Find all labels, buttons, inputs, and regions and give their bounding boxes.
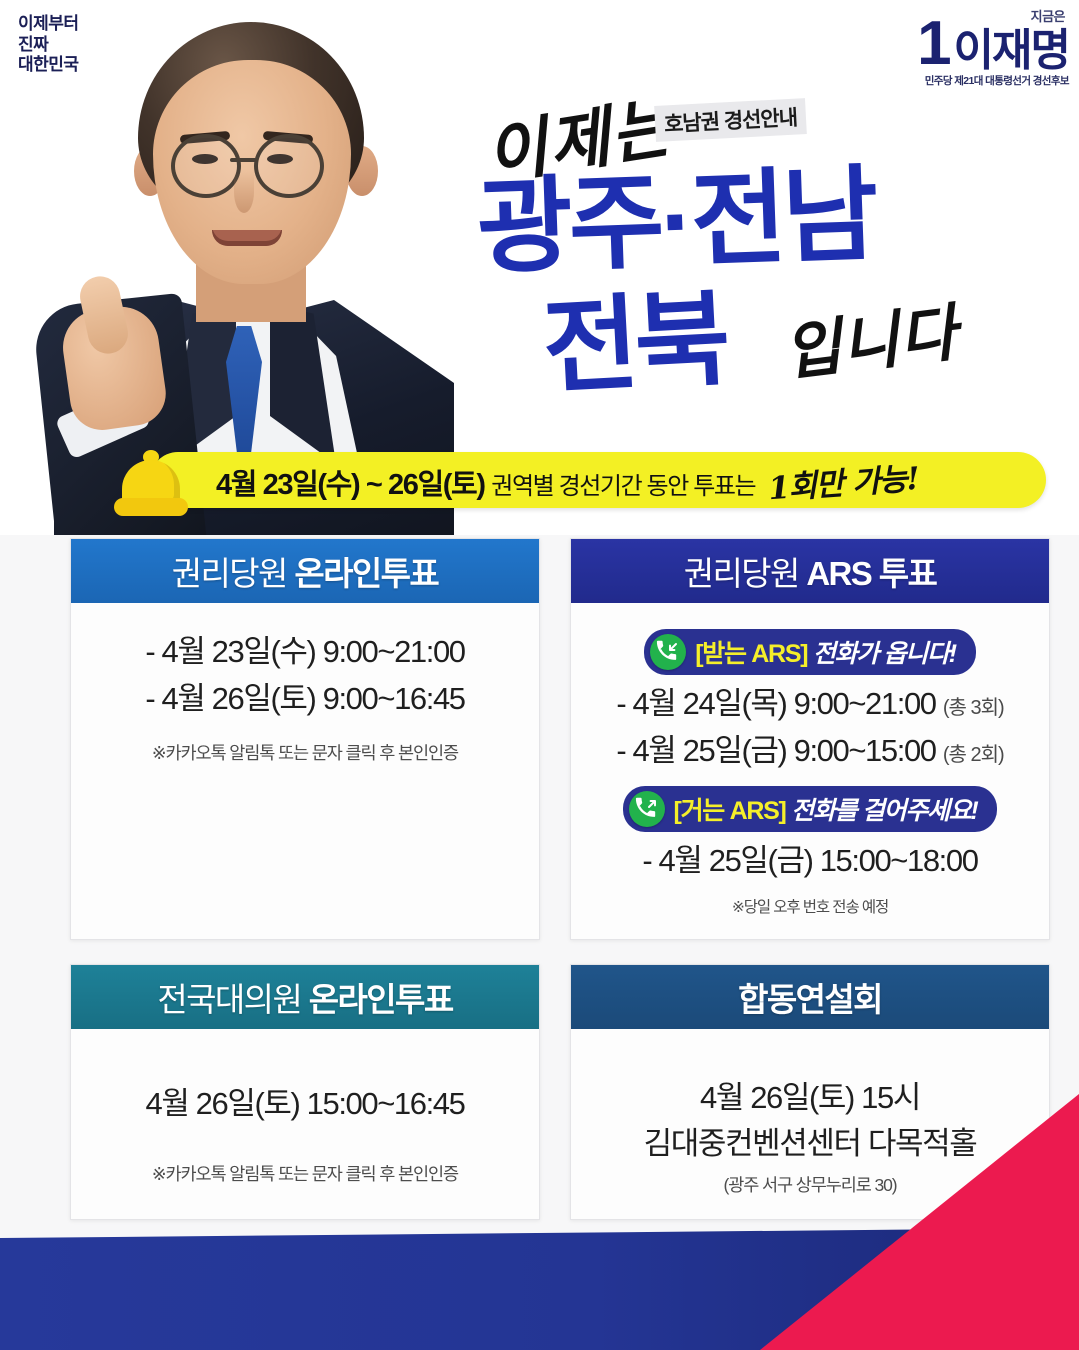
card-note: ※당일 오후 번호 전송 예정 bbox=[589, 895, 1031, 917]
card-note: ※카카오톡 알림톡 또는 문자 클릭 후 본인인증 bbox=[89, 740, 521, 765]
schedule-line: - 4월 24일(목) 9:00~21:00 (총 3회) bbox=[589, 681, 1031, 728]
schedule-count: (총 3회) bbox=[943, 697, 1004, 719]
schedule-line: 4월 26일(토) 15:00~16:45 bbox=[89, 1081, 521, 1128]
photo-mouth bbox=[212, 230, 282, 246]
period-banner: 4월 23일(수) ~ 26일(토) 권역별 경선기간 동안 투표는 1회만 가… bbox=[150, 452, 1046, 508]
phone-incoming-icon bbox=[650, 634, 686, 670]
outgoing-ars-pill: [거는 ARS] 전화를 걸어주세요! bbox=[623, 786, 998, 832]
headline-line-1: 광주·전남 bbox=[475, 163, 876, 281]
period-banner-text: 4월 23일(수) ~ 26일(토) 권역별 경선기간 동안 투표는 1회만 가… bbox=[216, 458, 918, 503]
bell-icon bbox=[112, 448, 190, 518]
venue-line: 김대중컨벤션센터 다목적홀 bbox=[589, 1121, 1031, 1168]
card-note: ※카카오톡 알림톡 또는 문자 클릭 후 본인인증 bbox=[89, 1161, 521, 1186]
card-kwonri-ars: 권리당원 ARS 투표 [받는 ARS] 전화가 옵니다! bbox=[570, 538, 1050, 940]
card-title-light: 권리당원 bbox=[172, 555, 295, 592]
card-header: 전국대의원 온라인투표 bbox=[71, 965, 539, 1029]
pill-highlight: [거는 ARS] bbox=[674, 797, 786, 825]
card-header: 합동연설회 bbox=[571, 965, 1049, 1029]
campaign-poster: 이제부터 진짜 대한민국 지금은 1 이재명 민주당 제21대 대통령선거 경선… bbox=[0, 0, 1079, 1350]
schedule-count: (총 2회) bbox=[943, 744, 1004, 766]
schedule-line-text: - 4월 24일(목) 9:00~21:00 bbox=[616, 686, 935, 721]
card-jeonguk-online: 전국대의원 온라인투표 4월 26일(토) 15:00~16:45 ※카카오톡 … bbox=[70, 964, 540, 1220]
card-title-light: 전국대의원 bbox=[157, 981, 308, 1018]
region-badge: 호남권 경선안내 bbox=[654, 98, 807, 142]
candidate-photo bbox=[20, 8, 450, 528]
card-body: 4월 26일(토) 15:00~16:45 ※카카오톡 알림톡 또는 문자 클릭… bbox=[71, 1029, 539, 1209]
phone-outgoing-icon bbox=[629, 791, 665, 827]
card-header: 권리당원 온라인투표 bbox=[71, 539, 539, 603]
headline-script-end: 입니다 bbox=[778, 282, 962, 393]
period-banner-period: 4월 23일(수) ~ 26일(토) bbox=[216, 469, 485, 501]
photo-glasses-left bbox=[171, 134, 241, 198]
schedule-line: - 4월 23일(수) 9:00~21:00 bbox=[89, 629, 521, 676]
period-banner-middle: 권역별 경선기간 동안 투표는 bbox=[491, 473, 755, 500]
pill-highlight: [받는 ARS] bbox=[695, 640, 807, 668]
candidate-name: 이재명 bbox=[954, 32, 1069, 70]
pill-text: 전화를 걸어주세요! bbox=[786, 797, 978, 825]
photo-nose bbox=[234, 171, 254, 213]
schedule-line: - 4월 25일(금) 9:00~15:00 (총 2회) bbox=[589, 728, 1031, 775]
card-header: 권리당원 ARS 투표 bbox=[571, 539, 1049, 603]
card-title-bold: 온라인투표 bbox=[294, 555, 438, 592]
incoming-ars-pill: [받는 ARS] 전화가 옵니다! bbox=[644, 629, 976, 675]
photo-glasses-right bbox=[254, 134, 324, 198]
headline-line-2: 전북 bbox=[540, 287, 729, 400]
candidate-number: 1 bbox=[917, 19, 949, 70]
card-title-bold: 합동연설회 bbox=[738, 981, 882, 1018]
card-title-light: 권리당원 bbox=[684, 555, 807, 592]
schedule-line: - 4월 25일(금) 15:00~18:00 bbox=[589, 838, 1031, 885]
card-body: [받는 ARS] 전화가 옵니다! - 4월 24일(목) 9:00~21:00… bbox=[571, 603, 1049, 939]
card-body: - 4월 23일(수) 9:00~21:00 - 4월 26일(토) 9:00~… bbox=[71, 603, 539, 787]
period-banner-handwritten: 1회만 가능! bbox=[767, 452, 920, 507]
info-cards: 권리당원 온라인투표 - 4월 23일(수) 9:00~21:00 - 4월 2… bbox=[0, 530, 1079, 1220]
card-kwonri-online: 권리당원 온라인투표 - 4월 23일(수) 9:00~21:00 - 4월 2… bbox=[70, 538, 540, 940]
pill-text: 전화가 옵니다! bbox=[807, 640, 956, 668]
card-title-bold: 온라인투표 bbox=[309, 981, 453, 1018]
schedule-line-text: - 4월 25일(금) 9:00~15:00 bbox=[616, 733, 935, 768]
candidate-name-row: 1 이재명 bbox=[917, 19, 1069, 70]
headline-block: 이제는 호남권 경선안내 광주·전남 전북 입니다 bbox=[455, 70, 1075, 510]
schedule-line: 4월 26일(토) 15시 bbox=[589, 1075, 1031, 1122]
photo-glasses-bridge bbox=[230, 158, 258, 162]
card-title-bold: ARS 투표 bbox=[806, 555, 936, 592]
schedule-line: - 4월 26일(토) 9:00~16:45 bbox=[89, 676, 521, 723]
